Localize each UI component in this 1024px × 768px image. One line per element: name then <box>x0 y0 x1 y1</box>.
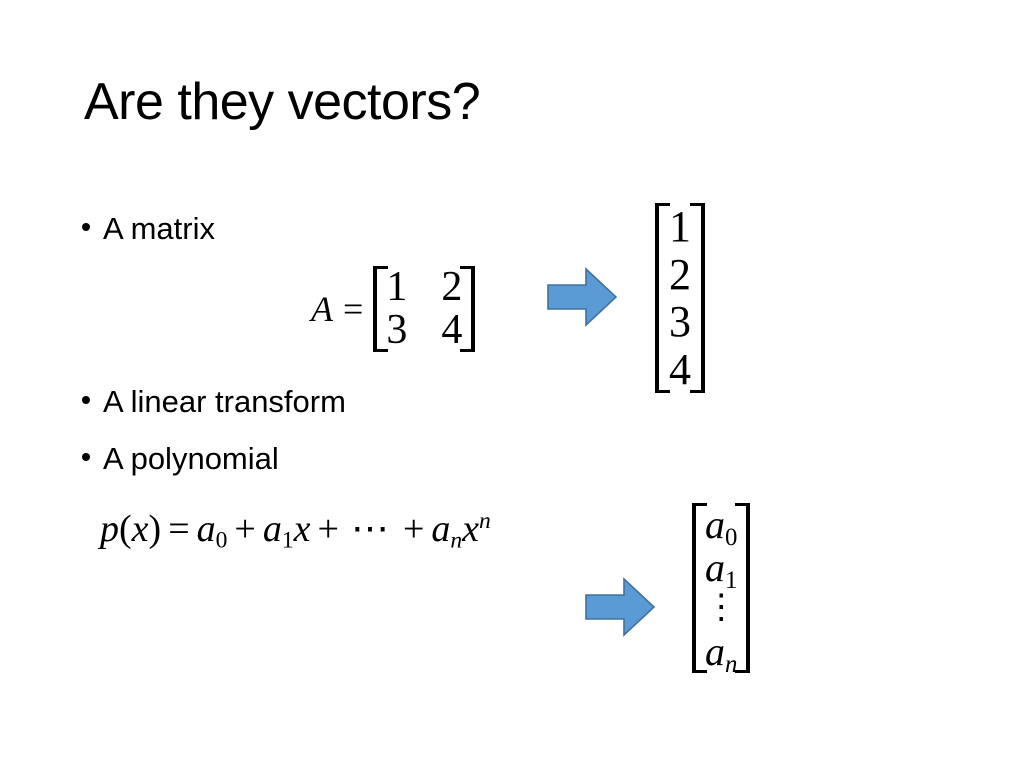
polynomial-equation: p(x)=a0+a1x+⋯+anxn <box>100 506 491 551</box>
vector-entry: 1 <box>667 203 693 251</box>
poly-termn-base: a <box>431 508 450 550</box>
slide-canvas: Are they vectors? A matrix A = 1 2 3 4 1… <box>0 0 1024 768</box>
poly-term1-variable: x <box>294 508 311 550</box>
matrix-to-vector-arrow <box>546 266 618 328</box>
vector-entries: 1 2 3 4 <box>667 203 693 393</box>
poly-termn-variable: x <box>462 508 479 550</box>
matrix-cell: 4 <box>441 309 462 352</box>
poly-close-paren: ) <box>149 508 162 550</box>
vector-brackets: a0 a1 ⋮ an <box>692 503 750 673</box>
vector-entry: a0 <box>704 503 738 546</box>
matrix-cell: 1 <box>386 266 407 309</box>
poly-plus-1: + <box>234 508 255 550</box>
bullet-label: A matrix <box>103 210 215 247</box>
bullet-dot-icon <box>82 223 90 231</box>
vector-entry: 2 <box>667 251 693 299</box>
matrix-equation-equals: = <box>343 288 363 330</box>
vector-entries: a0 a1 ⋮ an <box>704 503 738 673</box>
bullet-item-matrix: A matrix <box>82 210 215 247</box>
poly-plus-2: + <box>318 508 339 550</box>
matrix-equation-lhs: A <box>311 288 333 330</box>
bullet-dot-icon <box>82 453 90 461</box>
poly-ellipsis: ⋯ <box>351 508 391 550</box>
bullet-item-linear-transform: A linear transform <box>82 383 346 420</box>
polynomial-coefficient-vector: a0 a1 ⋮ an <box>692 501 750 673</box>
bullet-label: A polynomial <box>103 440 279 477</box>
matrix-cell: 2 <box>441 266 462 309</box>
vector-entry: 4 <box>667 346 693 394</box>
matrix-brackets: 1 2 3 4 <box>373 266 475 352</box>
vector-entry: 3 <box>667 298 693 346</box>
poly-term1-subscript: 1 <box>282 528 294 554</box>
bullet-item-polynomial: A polynomial <box>82 440 279 477</box>
matrix-grid: 1 2 3 4 <box>386 266 462 352</box>
poly-termn-subscript: n <box>450 528 462 554</box>
matrix-cell: 3 <box>386 309 407 352</box>
vector-entry-vdots: ⋮ <box>704 589 738 630</box>
bullet-label: A linear transform <box>103 383 346 420</box>
poly-open-paren: ( <box>119 508 132 550</box>
vector-entry: an <box>704 630 738 673</box>
poly-equals: = <box>168 508 189 550</box>
vector-brackets: 1 2 3 4 <box>655 203 705 393</box>
poly-function: p <box>100 508 119 550</box>
poly-term0-base: a <box>197 508 216 550</box>
vector-entry: a1 <box>704 546 738 589</box>
poly-variable: x <box>132 508 149 550</box>
bullet-dot-icon <box>82 396 90 404</box>
matrix-column-vector: 1 2 3 4 <box>655 201 705 393</box>
poly-term0-subscript: 0 <box>216 528 228 554</box>
poly-term1-base: a <box>263 508 282 550</box>
poly-termn-exponent: n <box>479 508 491 534</box>
page-title: Are they vectors? <box>84 74 480 131</box>
poly-plus-3: + <box>403 508 424 550</box>
matrix-equation: A = 1 2 3 4 <box>311 266 475 352</box>
polynomial-to-vector-arrow <box>584 576 656 638</box>
